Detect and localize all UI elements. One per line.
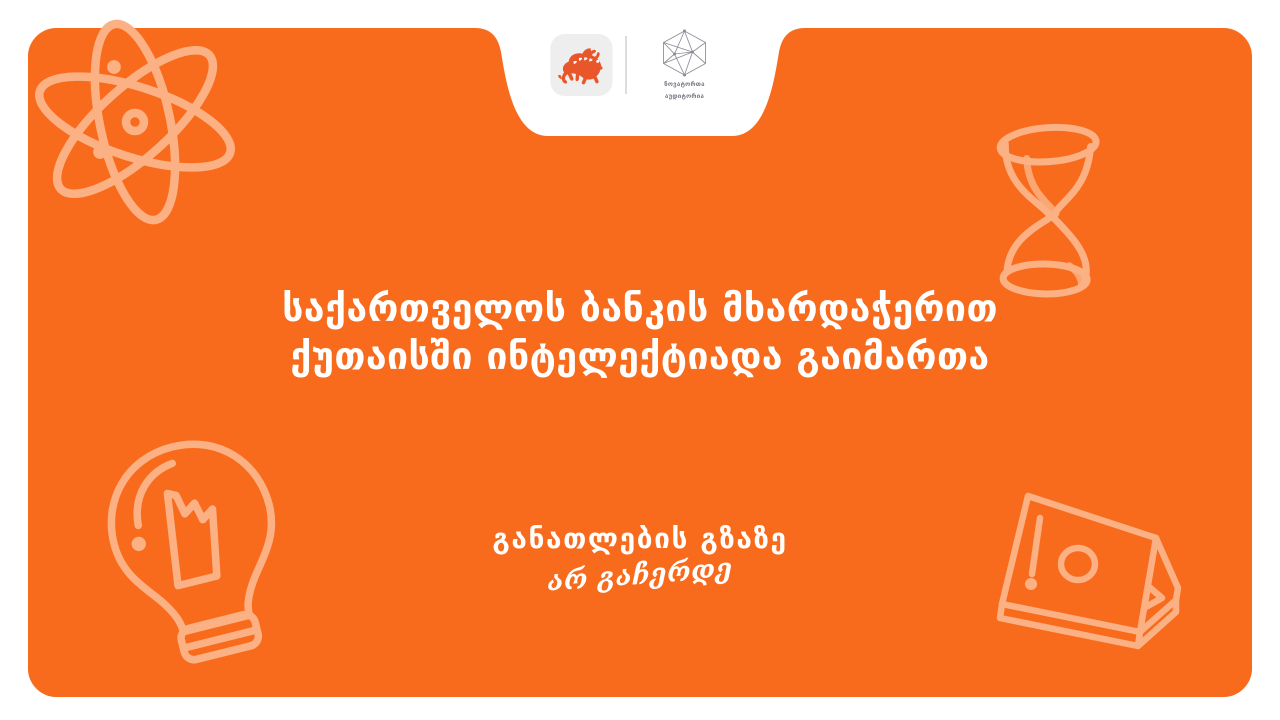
bank-of-georgia-lion-logo [551, 34, 613, 96]
page-title: საქართველოს ბანკის მხარდაჭერით ქუთაისში … [0, 285, 1280, 380]
headline-line-2: ქუთაისში ინტელექტიადა გაიმართა [0, 333, 1280, 381]
logo-divider [626, 36, 627, 94]
lion-icon [558, 45, 606, 85]
slide-canvas: ნოვატორთა აუდიტორია საქართველოს ბანკის მ… [0, 0, 1280, 720]
logo-caption-line-1: ნოვატორთა [664, 81, 705, 90]
innovators-auditorium-logo: ნოვატორთა აუდიტორია [640, 28, 730, 102]
headline-line-1: საქართველოს ბანკის მხარდაჭერით [0, 285, 1280, 333]
polyhedron-icon [657, 28, 713, 78]
slide-content: ნოვატორთა აუდიტორია საქართველოს ბანკის მ… [0, 0, 1280, 720]
logo-lockup: ნოვატორთა აუდიტორია [551, 28, 730, 102]
slogan-block: განათლების გზაზე არ გაჩერდე [0, 523, 1280, 591]
logo-caption-line-2: აუდიტორია [665, 93, 704, 102]
